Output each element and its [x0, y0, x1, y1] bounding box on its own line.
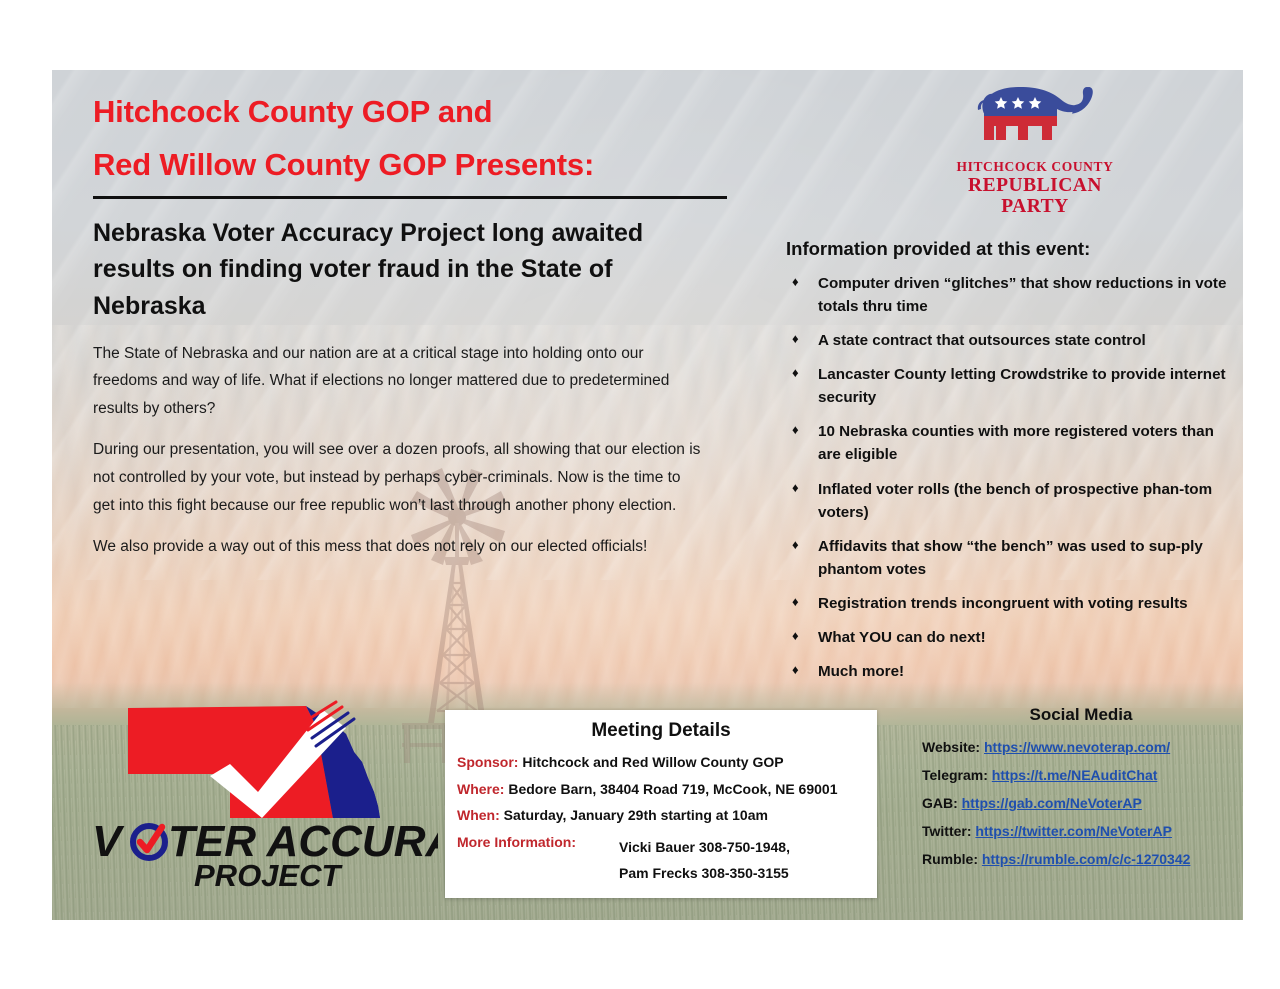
list-item-label: Inflated voter rolls (the bench of prosp…: [818, 481, 1212, 521]
svg-text:V: V: [92, 817, 125, 866]
list-item: ♦What YOU can do next!: [780, 626, 1230, 649]
list-item-label: Much more!: [818, 663, 904, 680]
hitchcock-gop-logo: HITCHCOCK COUNTY REPUBLICAN PARTY: [935, 78, 1135, 218]
diamond-bullet-icon: ♦: [792, 478, 799, 498]
list-item: ♦Computer driven “glitches” that show re…: [780, 272, 1230, 318]
list-item: ♦10 Nebraska counties with more register…: [780, 420, 1230, 466]
body-paragraph-3: We also provide a way out of this mess t…: [93, 533, 701, 561]
meeting-when-value: Saturday, January 29th starting at 10am: [504, 807, 768, 823]
meeting-when-row: When: Saturday, January 29th starting at…: [445, 807, 877, 825]
list-item-label: 10 Nebraska counties with more registere…: [818, 423, 1214, 463]
diamond-bullet-icon: ♦: [792, 329, 799, 349]
headline-line-2: Red Willow County GOP Presents:: [93, 149, 743, 180]
meeting-sponsor-row: Sponsor: Hitchcock and Red Willow County…: [445, 754, 877, 772]
meeting-details-title: Meeting Details: [445, 720, 877, 742]
body-paragraph-1: The State of Nebraska and our nation are…: [93, 340, 701, 423]
diamond-bullet-icon: ♦: [792, 420, 799, 440]
meeting-sponsor-label: Sponsor:: [457, 754, 518, 770]
list-item-label: Affidavits that show “the bench” was use…: [818, 538, 1203, 578]
list-item-label: Lancaster County letting Crowdstrike to …: [818, 366, 1226, 406]
diamond-bullet-icon: ♦: [792, 272, 799, 292]
subtitle: Nebraska Voter Accuracy Project long awa…: [93, 215, 693, 324]
nebraska-checkmark-icon: [118, 700, 428, 818]
diamond-bullet-icon: ♦: [792, 660, 799, 680]
social-label-gab: GAB:: [922, 795, 958, 811]
left-column: Hitchcock County GOP and Red Willow Coun…: [93, 96, 743, 575]
social-link-telegram[interactable]: https://t.me/NEAuditChat: [992, 767, 1158, 783]
event-flyer: Hitchcock County GOP and Red Willow Coun…: [52, 70, 1243, 920]
meeting-where-value: Bedore Barn, 38404 Road 719, McCook, NE …: [508, 781, 837, 797]
body-paragraph-2: During our presentation, you will see ov…: [93, 436, 701, 519]
meeting-when-label: When:: [457, 807, 500, 823]
list-item-label: Registration trends incongruent with vot…: [818, 595, 1188, 612]
headline-line-1: Hitchcock County GOP and: [93, 96, 743, 127]
meeting-where-label: Where:: [457, 781, 504, 797]
social-link-twitter[interactable]: https://twitter.com/NeVoterAP: [975, 823, 1172, 839]
list-item: ♦Affidavits that show “the bench” was us…: [780, 535, 1230, 581]
meeting-sponsor-value: Hitchcock and Red Willow County GOP: [522, 754, 783, 770]
diamond-bullet-icon: ♦: [792, 363, 799, 383]
social-row-twitter: Twitter: https://twitter.com/NeVoterAP: [922, 823, 1240, 839]
social-media-section: Social Media Website: https://www.nevote…: [922, 705, 1240, 879]
meeting-details-card: Meeting Details Sponsor: Hitchcock and R…: [445, 710, 877, 898]
voter-accuracy-project-logo: V TER ACCURACY PROJECT: [90, 700, 440, 890]
info-bullet-list: ♦Computer driven “glitches” that show re…: [780, 272, 1230, 683]
gop-logo-line-1: HITCHCOCK COUNTY: [935, 159, 1135, 175]
meeting-more-info-row: More Information: Vicki Bauer 308-750-19…: [445, 834, 877, 887]
social-label-rumble: Rumble:: [922, 851, 978, 867]
meeting-contact-1: Vicki Bauer 308-750-1948,: [619, 839, 790, 855]
social-row-rumble: Rumble: https://rumble.com/c/c-1270342: [922, 851, 1240, 867]
headline-divider: [93, 196, 727, 199]
list-item: ♦Much more!: [780, 660, 1230, 683]
list-item: ♦Inflated voter rolls (the bench of pros…: [780, 478, 1230, 524]
social-link-website[interactable]: https://www.nevoterap.com/: [984, 739, 1170, 755]
meeting-more-info-label: More Information:: [457, 834, 619, 887]
social-media-title: Social Media: [922, 705, 1240, 725]
social-label-telegram: Telegram:: [922, 767, 988, 783]
social-link-gab[interactable]: https://gab.com/NeVoterAP: [962, 795, 1142, 811]
list-item: ♦Lancaster County letting Crowdstrike to…: [780, 363, 1230, 409]
social-row-website: Website: https://www.nevoterap.com/: [922, 739, 1240, 755]
info-heading: Information provided at this event:: [780, 238, 1230, 260]
diamond-bullet-icon: ♦: [792, 535, 799, 555]
social-row-gab: GAB: https://gab.com/NeVoterAP: [922, 795, 1240, 811]
gop-logo-line-2: REPUBLICAN PARTY: [935, 175, 1135, 218]
social-label-website: Website:: [922, 739, 980, 755]
list-item: ♦A state contract that outsources state …: [780, 329, 1230, 352]
meeting-where-row: Where: Bedore Barn, 38404 Road 719, McCo…: [445, 781, 877, 799]
diamond-bullet-icon: ♦: [792, 592, 799, 612]
list-item-label: What YOU can do next!: [818, 629, 986, 646]
voter-accuracy-project-wordmark: V TER ACCURACY PROJECT: [90, 814, 438, 890]
meeting-contact-2: Pam Frecks 308-350-3155: [619, 865, 789, 881]
wordmark-project: PROJECT: [194, 858, 343, 890]
right-column: HITCHCOCK COUNTY REPUBLICAN PARTY Inform…: [780, 78, 1230, 694]
diamond-bullet-icon: ♦: [792, 626, 799, 646]
social-label-twitter: Twitter:: [922, 823, 972, 839]
list-item: ♦Registration trends incongruent with vo…: [780, 592, 1230, 615]
social-link-rumble[interactable]: https://rumble.com/c/c-1270342: [982, 851, 1191, 867]
list-item-label: A state contract that outsources state c…: [818, 332, 1146, 349]
social-row-telegram: Telegram: https://t.me/NEAuditChat: [922, 767, 1240, 783]
meeting-contacts: Vicki Bauer 308-750-1948, Pam Frecks 308…: [619, 834, 790, 887]
republican-elephant-icon: [960, 78, 1110, 153]
list-item-label: Computer driven “glitches” that show red…: [818, 275, 1226, 315]
